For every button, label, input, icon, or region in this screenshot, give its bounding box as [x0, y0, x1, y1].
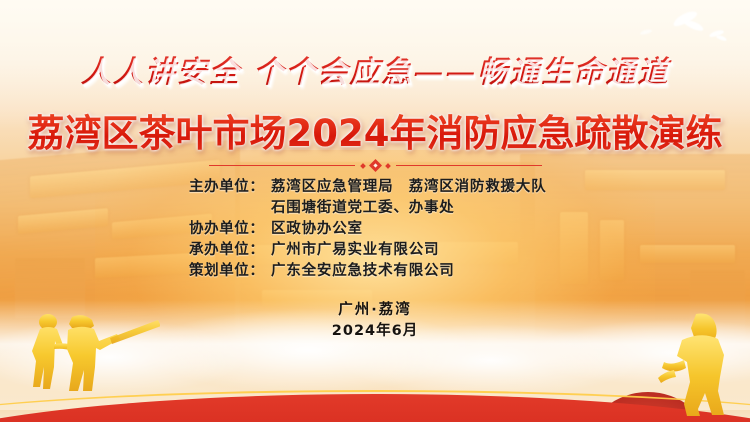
organizer-label: 协办单位：: [189, 219, 271, 239]
organizer-label: 策划单位：: [189, 261, 271, 281]
poster-subtitle: 人人讲安全 个个会应急——畅通生命通道: [0, 47, 750, 91]
organizer-value: 石围塘街道党工委、办事处: [271, 198, 561, 218]
poster-main-title: 荔湾区茶叶市场2024年消防应急疏散演练: [0, 103, 750, 157]
organizer-label: 主办单位：: [189, 177, 271, 197]
poster-canvas: 人人讲安全 个个会应急——畅通生命通道 荔湾区茶叶市场2024年消防应急疏散演练…: [0, 0, 750, 422]
organizer-list: 主办单位：荔湾区应急管理局 荔湾区消防救援大队主办单位：石围塘街道党工委、办事处…: [0, 177, 750, 281]
organizer-value: 广州市广易实业有限公司: [271, 240, 561, 260]
poster-footer: 广州·荔湾 2024年6月: [0, 300, 750, 342]
organizer-value: 区政协办公室: [271, 219, 561, 239]
divider-line-right: [396, 165, 542, 167]
ornamental-divider: [0, 161, 750, 170]
footer-place: 广州·荔湾: [0, 300, 750, 320]
organizer-label: 承办单位：: [189, 240, 271, 260]
divider-line-left: [209, 165, 355, 167]
divider-dot-right: [385, 163, 391, 169]
organizer-row: 协办单位：区政协办公室: [189, 219, 561, 239]
organizer-row: 主办单位：石围塘街道党工委、办事处: [189, 198, 561, 218]
diamond-ornament-icon: [369, 159, 382, 172]
organizer-row: 策划单位：广东全安应急技术有限公司: [189, 261, 561, 281]
organizer-row: 承办单位：广州市广易实业有限公司: [189, 240, 561, 260]
organizer-value: 荔湾区应急管理局 荔湾区消防救援大队: [271, 177, 561, 197]
organizer-row: 主办单位：荔湾区应急管理局 荔湾区消防救援大队: [189, 177, 561, 197]
footer-date: 2024年6月: [0, 320, 750, 342]
organizer-value: 广东全安应急技术有限公司: [271, 261, 561, 281]
divider-dot-left: [360, 163, 366, 169]
